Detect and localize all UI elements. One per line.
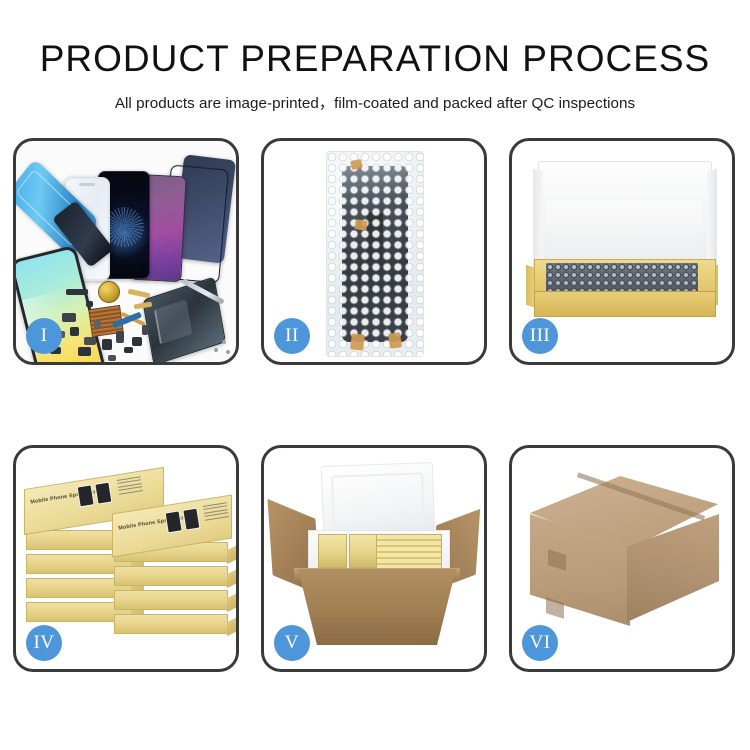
foam-lid-icon	[321, 462, 435, 538]
component-icon	[66, 289, 88, 295]
tape-icon	[350, 333, 365, 350]
carton-body-icon	[298, 569, 456, 645]
screw-icon	[226, 350, 230, 354]
step-badge-5: V	[274, 625, 310, 661]
component-icon	[94, 321, 101, 328]
bubble-wrap-bag-icon	[326, 151, 424, 357]
process-step-2[interactable]: II	[261, 138, 487, 365]
speaker-module-icon	[98, 281, 120, 303]
component-icon	[78, 347, 91, 356]
yellow-boxes-flat-stack	[376, 534, 442, 570]
step-badge-4: IV	[26, 625, 62, 661]
yellow-box-front-panel	[534, 291, 716, 317]
component-icon	[84, 337, 96, 345]
step-badge-6: VI	[522, 625, 558, 661]
component-icon	[102, 339, 112, 350]
component-icon	[108, 355, 116, 361]
stacked-box	[114, 614, 228, 634]
component-icon	[86, 301, 93, 307]
step-badge-1: I	[26, 318, 62, 354]
stacked-box	[114, 566, 228, 586]
step-badge-3: III	[522, 318, 558, 354]
flex-cable-icon	[128, 289, 151, 298]
tape-icon	[354, 219, 368, 231]
page-header: PRODUCT PREPARATION PROCESS All products…	[0, 0, 750, 113]
page-title: PRODUCT PREPARATION PROCESS	[0, 0, 750, 79]
box-inner-foam	[546, 201, 702, 259]
process-step-4[interactable]: Mobile Phone Spare Parts Mobile Phone Sp…	[13, 445, 239, 672]
component-icon	[70, 327, 79, 336]
component-icon	[62, 313, 76, 322]
component-icon	[116, 331, 124, 343]
process-step-grid: I II III	[13, 138, 737, 672]
component-icon	[124, 347, 133, 353]
process-step-5[interactable]: V	[261, 445, 487, 672]
tape-icon	[388, 332, 402, 349]
process-step-1[interactable]: I	[13, 138, 239, 365]
component-icon	[132, 337, 142, 346]
bubble-texture	[327, 152, 423, 356]
step-badge-2: II	[274, 318, 310, 354]
process-step-3[interactable]: III	[509, 138, 735, 365]
screw-icon	[222, 340, 226, 344]
component-icon	[142, 325, 148, 335]
stacked-box	[114, 590, 228, 610]
process-step-6[interactable]: VI	[509, 445, 735, 672]
screw-icon	[214, 348, 218, 352]
page-subtitle: All products are image-printed，film-coat…	[0, 79, 750, 113]
